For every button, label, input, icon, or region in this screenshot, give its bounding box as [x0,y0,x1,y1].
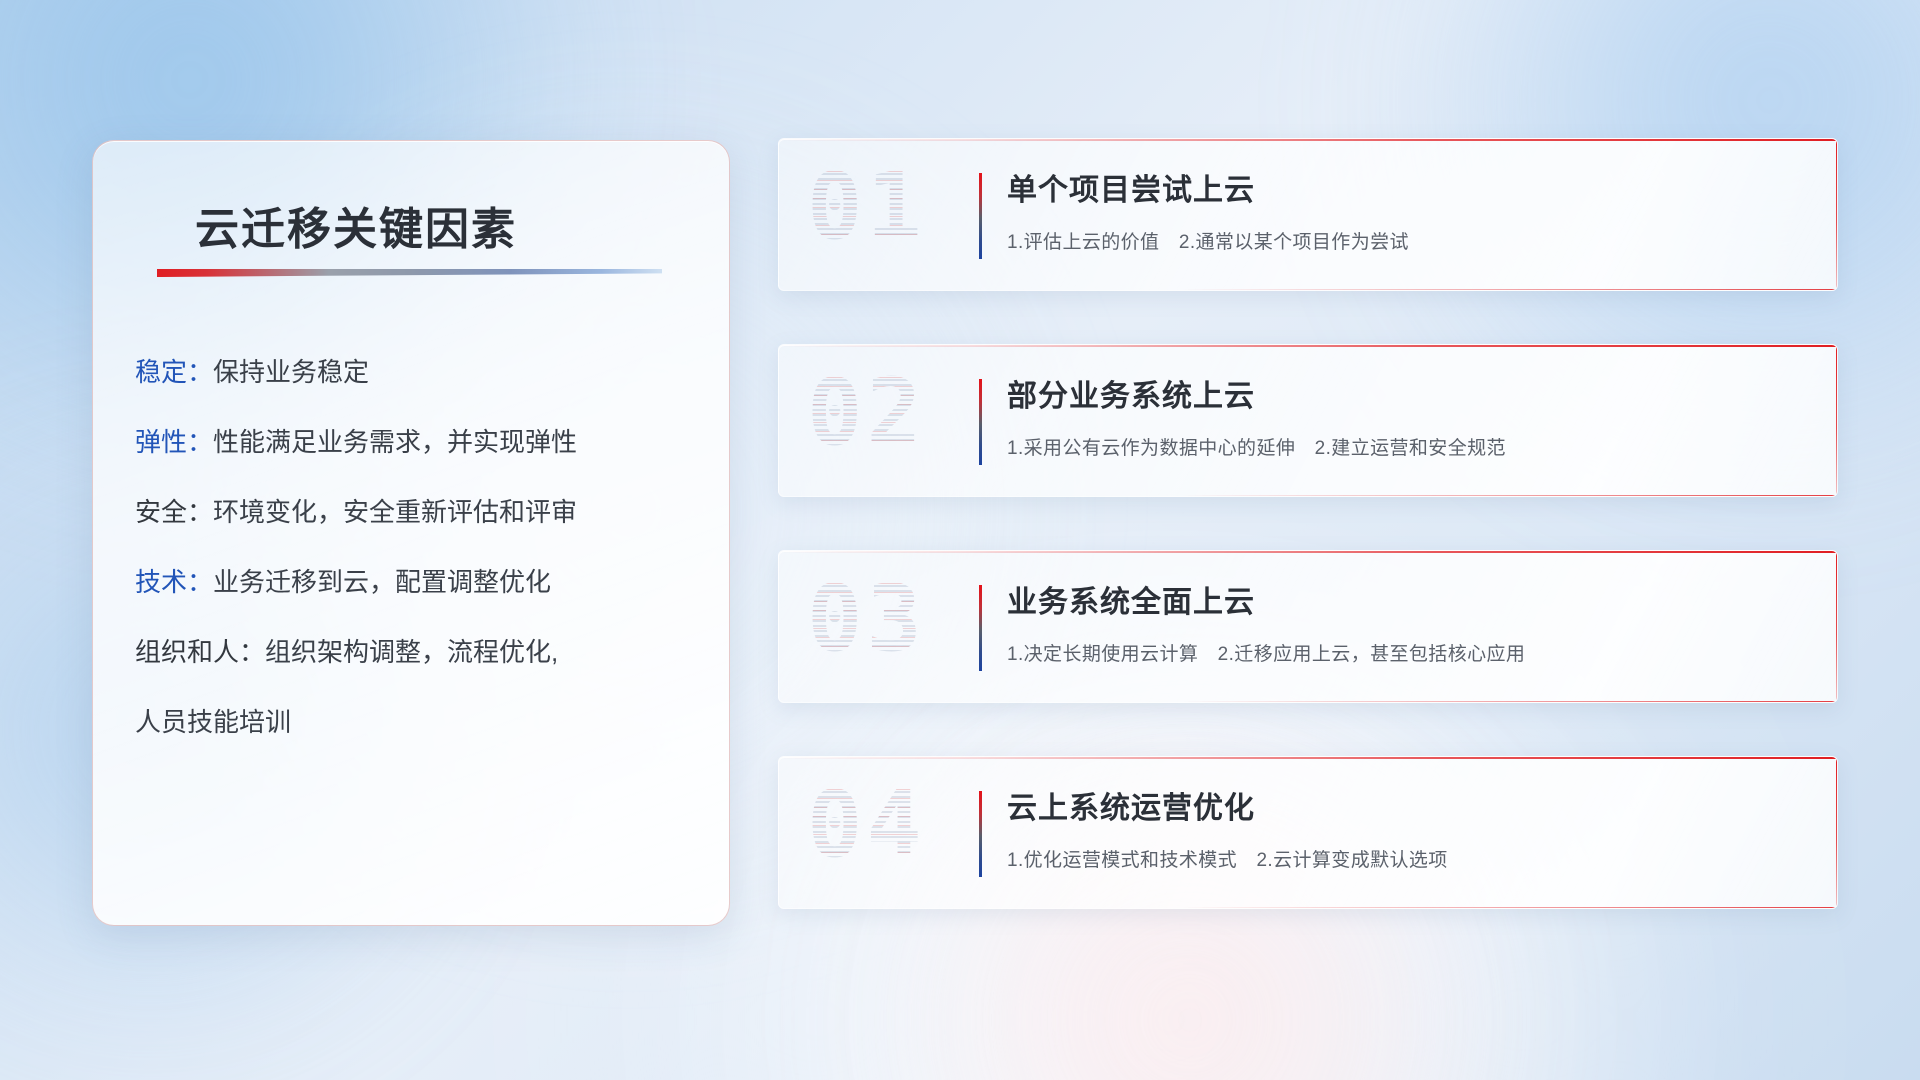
card-body: 业务系统全面上云 1.决定长期使用云计算 2.迁移应用上云，甚至包括核心应用 [1007,577,1811,666]
list-item-text: 人员技能培训 [135,707,291,737]
card-accent-right [1836,757,1838,908]
card-body: 云上系统运营优化 1.优化运营模式和技术模式 2.云计算变成默认选项 [1007,783,1811,872]
card-heading: 业务系统全面上云 [1007,577,1811,621]
card-heading: 单个项目尝试上云 [1007,165,1811,209]
list-item-text: 业务迁移到云，配置调整优化 [213,567,551,597]
stage-card-01[interactable]: 01 01 单个项目尝试上云 1.评估上云的价值 2.通常以某个项目作为尝试 [778,138,1838,291]
title-underline-rule [157,269,662,277]
card-number-ghost-tint: 02 [807,359,926,466]
card-number-ghost-tint: 03 [807,565,926,672]
card-accent-bottom [1181,701,1837,703]
card-accent-top [779,345,1837,347]
card-accent-right [1836,551,1838,702]
list-item-label: 组织和人： [135,637,265,667]
list-item-label: 弹性： [135,427,213,457]
list-item-label: 技术： [135,567,213,597]
list-item-text: 环境变化，安全重新评估和评审 [213,497,577,527]
list-item-label: 稳定： [135,357,213,387]
card-accent-top [779,139,1837,141]
stage-card-04[interactable]: 04 04 云上系统运营优化 1.优化运营模式和技术模式 2.云计算变成默认选项 [778,756,1838,909]
stage-card-02[interactable]: 02 02 部分业务系统上云 1.采用公有云作为数据中心的延伸 2.建立运营和安… [778,344,1838,497]
stage-card-03[interactable]: 03 03 业务系统全面上云 1.决定长期使用云计算 2.迁移应用上云，甚至包括… [778,550,1838,703]
list-item: 技术：业务迁移到云，配置调整优化 [135,569,701,595]
card-accent-right [1836,139,1838,290]
stage-cards-list: 01 01 单个项目尝试上云 1.评估上云的价值 2.通常以某个项目作为尝试 0… [778,138,1838,962]
card-description: 1.优化运营模式和技术模式 2.云计算变成默认选项 [1007,845,1811,872]
card-body: 部分业务系统上云 1.采用公有云作为数据中心的延伸 2.建立运营和安全规范 [1007,371,1811,460]
list-item-text: 组织架构调整，流程优化, [265,637,558,667]
slide-stage: 云迁移关键因素 稳定：保持业务稳定 弹性：性能满足业务需求，并实现弹性 安全：环… [0,0,1920,1080]
list-item-text: 性能满足业务需求，并实现弹性 [213,427,577,457]
card-accent-bottom [1181,907,1837,909]
card-accent-top [779,551,1837,553]
card-heading: 云上系统运营优化 [1007,783,1811,827]
card-divider-bar [979,379,982,465]
list-item: 安全：环境变化，安全重新评估和评审 [135,499,701,525]
card-divider-bar [979,791,982,877]
card-divider-bar [979,173,982,259]
card-body: 单个项目尝试上云 1.评估上云的价值 2.通常以某个项目作为尝试 [1007,165,1811,254]
card-number-ghost-tint: 04 [807,771,926,878]
list-item: 稳定：保持业务稳定 [135,359,701,385]
card-divider-bar [979,585,982,671]
list-item-label: 安全： [135,497,213,527]
card-accent-bottom [1181,495,1837,497]
card-description: 1.采用公有云作为数据中心的延伸 2.建立运营和安全规范 [1007,433,1811,460]
list-item-continuation: 人员技能培训 [135,709,701,735]
key-factors-panel: 云迁移关键因素 稳定：保持业务稳定 弹性：性能满足业务需求，并实现弹性 安全：环… [92,140,730,926]
card-accent-right [1836,345,1838,496]
card-description: 1.评估上云的价值 2.通常以某个项目作为尝试 [1007,227,1811,254]
page-title: 云迁移关键因素 [195,193,517,257]
list-item: 组织和人：组织架构调整，流程优化, [135,639,701,665]
key-factors-list: 稳定：保持业务稳定 弹性：性能满足业务需求，并实现弹性 安全：环境变化，安全重新… [135,359,701,779]
list-item: 弹性：性能满足业务需求，并实现弹性 [135,429,701,455]
card-description: 1.决定长期使用云计算 2.迁移应用上云，甚至包括核心应用 [1007,639,1811,666]
card-accent-top [779,757,1837,759]
list-item-text: 保持业务稳定 [213,357,369,387]
card-heading: 部分业务系统上云 [1007,371,1811,415]
card-accent-bottom [1181,289,1837,291]
card-number-ghost-tint: 01 [807,153,926,260]
